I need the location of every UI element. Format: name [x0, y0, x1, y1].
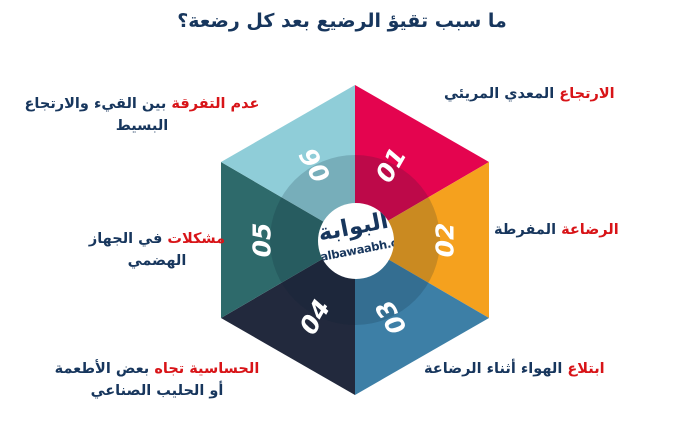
segment-number-02: 02 [431, 223, 460, 258]
label-06-tail: بين القيء والارتجاع البسيط [25, 96, 169, 134]
label-item-03: ابتلاع الهواء أثناء الرضاعة [424, 358, 680, 380]
label-05-head: مشكلات [162, 231, 225, 247]
infographic-canvas: ما سبب تقيؤ الرضيع بعد كل رضعة؟ [0, 0, 684, 428]
page-title: ما سبب تقيؤ الرضيع بعد كل رضعة؟ [0, 8, 684, 34]
label-04-head: الحساسية تجاه [149, 361, 259, 377]
label-03-head: ابتلاع [562, 361, 604, 377]
center-logo: البوابة albawaabh.com [318, 203, 394, 279]
label-01-tail: المعدي المريئي [444, 86, 554, 102]
label-item-04: الحساسية تجاه بعض الأطعمة أو الحليب الصن… [14, 358, 300, 402]
label-06-head: عدم التفرقة [166, 96, 259, 112]
label-item-01: الارتجاع المعدي المريئي [444, 83, 680, 105]
label-item-06: عدم التفرقة بين القيء والارتجاع البسيط [4, 93, 280, 137]
label-item-02: الرضاعة المفرطة [494, 219, 680, 241]
label-03-tail: الهواء أثناء الرضاعة [424, 361, 562, 377]
label-02-head: الرضاعة [556, 222, 619, 238]
label-02-tail: المفرطة [494, 222, 556, 238]
label-01-head: الارتجاع [554, 86, 614, 102]
label-item-05: مشكلات في الجهاز الهضمي [44, 228, 270, 272]
